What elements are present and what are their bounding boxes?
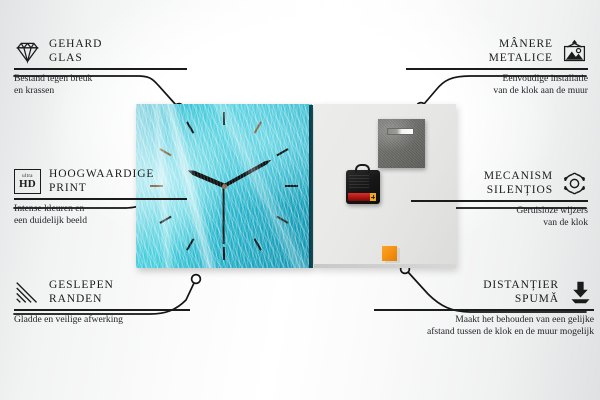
callout-title: MECANISM SILENȚIOS <box>484 170 553 197</box>
gear-icon <box>561 170 588 197</box>
callout-subtitle: Intense kleuren en een duidelijk beeld <box>14 203 204 227</box>
beveled-edge-icon <box>14 279 41 306</box>
title-line-2: GLAS <box>49 52 102 66</box>
mechanism-grill <box>349 174 369 188</box>
clock-second-hand <box>223 186 225 244</box>
callout-title: DISTANȚIER SPUMĂ <box>483 279 559 306</box>
badge-text-main: HD <box>19 179 36 190</box>
clock-tick <box>159 148 171 156</box>
callout-subtitle: Geruisloze wijzers van de klok <box>403 205 588 229</box>
subtitle-line-1: Maakt het behouden van een gelijke <box>364 314 594 326</box>
callout-rule <box>411 200 588 202</box>
battery-plus-icon <box>371 195 375 199</box>
callout-subtitle: Gladde en veilige afwerking <box>14 314 214 326</box>
callout-title: GEHARD GLAS <box>49 38 102 65</box>
diamond-icon <box>14 38 41 65</box>
callout-gehard-glas: GEHARD GLAS Bestand tegen breuk en krass… <box>14 38 204 97</box>
clock-minute-hand <box>223 158 272 188</box>
clock-tick <box>254 238 262 250</box>
metal-hanging-plate <box>378 119 425 168</box>
clock-panel-edge <box>309 105 313 268</box>
orange-foam-spacer <box>382 246 397 261</box>
hanging-picture-icon <box>561 38 588 65</box>
callout-title: GESLEPEN RANDEN <box>49 279 114 306</box>
subtitle-line-1: Gladde en veilige afwerking <box>14 314 214 326</box>
callout-manere-metalice: MÂNERE METALICE Eenvoudige installatie v… <box>398 38 588 97</box>
quartz-clock-mechanism <box>346 170 380 204</box>
mechanism-hanger <box>355 164 370 173</box>
subtitle-line-1: Eenvoudige installatie <box>398 73 588 85</box>
callout-hoogwaardige-print: ultra HD HOOGWAARDIGE PRINT Intense kleu… <box>14 168 204 227</box>
title-line-1: GEHARD <box>49 38 102 52</box>
title-line-1: HOOGWAARDIGE <box>49 168 154 182</box>
callout-rule <box>14 68 187 70</box>
subtitle-line-2: een duidelijk beeld <box>14 215 204 227</box>
clock-tick <box>186 121 194 133</box>
subtitle-line-2: van de klok <box>403 217 588 229</box>
subtitle-line-1: Geruisloze wijzers <box>403 205 588 217</box>
plate-slot <box>387 128 414 135</box>
title-line-1: DISTANȚIER <box>483 279 559 293</box>
clock-tick <box>223 112 225 125</box>
callout-distantier-spuma: DISTANȚIER SPUMĂ Maakt het behouden van … <box>364 279 594 338</box>
title-line-2: SILENȚIOS <box>484 184 553 198</box>
ultra-hd-badge-icon: ultra HD <box>14 169 41 194</box>
clock-center-cap <box>222 184 227 189</box>
title-line-2: SPUMĂ <box>483 293 559 307</box>
clock-tick <box>276 216 288 224</box>
subtitle-line-1: Intense kleuren en <box>14 203 204 215</box>
callout-rule <box>406 68 588 70</box>
callout-title: MÂNERE METALICE <box>489 38 553 65</box>
subtitle-line-1: Bestand tegen breuk <box>14 73 204 85</box>
callout-rule <box>14 198 187 200</box>
spacer-down-arrow-icon <box>567 279 594 306</box>
callout-mecanism-silentios: MECANISM SILENȚIOS Geruisloze wijzers va… <box>403 170 588 229</box>
clock-tick <box>254 121 262 133</box>
title-line-2: PRINT <box>49 182 154 196</box>
callout-geslepen-randen: GESLEPEN RANDEN Gladde en veilige afwerk… <box>14 279 214 326</box>
title-line-1: GESLEPEN <box>49 279 114 293</box>
callout-subtitle: Bestand tegen breuk en krassen <box>14 73 204 97</box>
clock-tick <box>285 185 298 187</box>
subtitle-line-2: van de klok aan de muur <box>398 85 588 97</box>
clock-tick <box>223 247 225 260</box>
callout-rule <box>14 309 190 311</box>
subtitle-line-2: en krassen <box>14 85 204 97</box>
clock-tick <box>276 148 288 156</box>
title-line-2: RANDEN <box>49 293 114 307</box>
subtitle-line-2: afstand tussen de klok en de muur mogeli… <box>364 326 594 338</box>
title-line-1: MECANISM <box>484 170 553 184</box>
callout-rule <box>374 309 594 311</box>
title-line-2: METALICE <box>489 52 553 66</box>
callout-title: HOOGWAARDIGE PRINT <box>49 168 154 195</box>
clock-tick <box>186 238 194 250</box>
infographic-canvas: GEHARD GLAS Bestand tegen breuk en krass… <box>0 0 600 400</box>
callout-subtitle: Eenvoudige installatie van de klok aan d… <box>398 73 588 97</box>
title-line-1: MÂNERE <box>489 38 553 52</box>
callout-subtitle: Maakt het behouden van een gelijke afsta… <box>364 314 594 338</box>
